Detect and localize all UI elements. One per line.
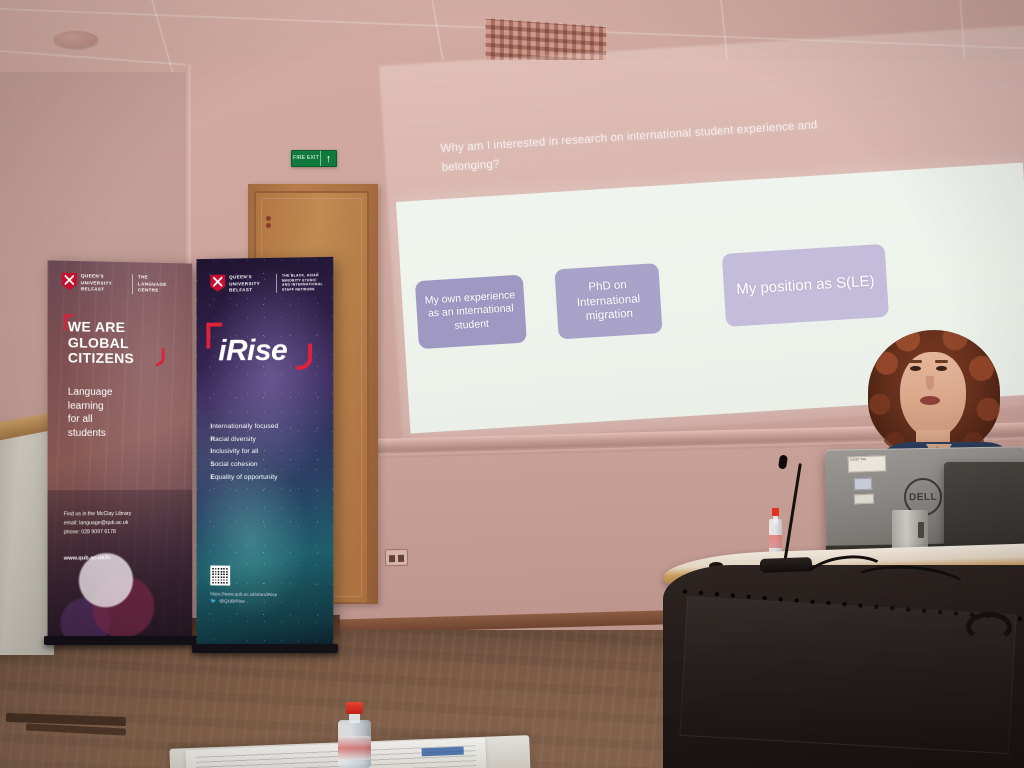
asset-sticker [854, 478, 872, 491]
banner-base [44, 636, 199, 645]
face [900, 352, 966, 438]
value-initial: I [210, 423, 212, 430]
lectern-front-panel [679, 596, 1016, 754]
mouth [920, 396, 940, 405]
water-bottle-lectern [769, 508, 782, 556]
asset-sticker: ASSET TAG [848, 455, 887, 472]
bottle-cap [346, 702, 363, 714]
irise-twitter: 🐦 @QUBiRise [210, 599, 245, 604]
bottle-label [338, 736, 371, 760]
qub-logo: QUEEN'S UNIVERSITY BELFAST [210, 274, 260, 294]
qub-logo: QUEEN'S UNIVERSITY BELFAST [62, 273, 112, 294]
irise-url: https://www.qub.ac.uk/sites/iRise [210, 591, 277, 597]
banner-headline: WE ARE GLOBAL CITIZENS [68, 319, 134, 367]
left-podium [0, 425, 54, 655]
asset-sticker [854, 494, 874, 505]
value-rest: nclusivity for all [212, 448, 258, 455]
fire-exit-label: FIRE EXIT [292, 156, 320, 161]
bottle-neck [773, 515, 778, 524]
smoke-detector-icon [54, 31, 98, 48]
door-hinge-marks [266, 216, 271, 221]
qr-code-icon [210, 565, 230, 585]
water-bottle-foreground [338, 702, 371, 768]
value-initial: I [210, 448, 212, 455]
value-rest: quality of opportunity [215, 474, 278, 481]
irise-network-mark: THE BLACK, ASIAN MINORITY ETHNIC AND INT… [276, 273, 323, 292]
irise-values-list: Internationally focused Racial diversity… [210, 421, 278, 484]
lecture-room-photo: Why am I interested in research on inter… [0, 0, 1024, 768]
banner-irise: QUEEN'S UNIVERSITY BELFAST THE BLACK, AS… [197, 257, 334, 649]
bottle-label [769, 535, 782, 548]
irise-logo: iRise [218, 334, 287, 369]
value-initial: R [210, 436, 215, 443]
bottle-cap [772, 508, 779, 516]
qub-wordmark: QUEEN'S UNIVERSITY BELFAST [229, 274, 260, 294]
nose [926, 376, 934, 390]
twitter-bird-icon: 🐦 [210, 599, 216, 604]
banner-subhead: Language learning for all students [68, 386, 113, 440]
value-rest: acial diversity [215, 436, 256, 443]
value-initial: E [210, 474, 214, 481]
slide-box-3: My position as S(LE) [722, 244, 889, 327]
eyebrow-right [935, 360, 948, 363]
bracket-close-icon [296, 344, 312, 370]
fire-exit-sign: FIRE EXIT ↑ [291, 150, 337, 167]
qub-shield-icon [210, 275, 225, 292]
banner-contact: Find us in the McClay Library email: lan… [64, 510, 131, 538]
banner-url: www.qub.ac.uk/lc [64, 555, 111, 562]
language-centre-mark: THE LANGUAGE CENTRE [132, 274, 167, 294]
value-rest: nternationally focused [212, 423, 278, 430]
banner-base [192, 644, 338, 653]
slide-box-1: My own experience as an international st… [415, 275, 527, 350]
microphone-base [760, 557, 812, 573]
eyebrow-left [909, 360, 922, 363]
qub-shield-icon [62, 273, 77, 290]
bracket-open-icon [206, 322, 222, 348]
eye-left [910, 366, 921, 371]
bracket-close-icon [156, 348, 165, 366]
power-socket-icon [385, 549, 408, 567]
slide-box-2: PhD on International migration [554, 263, 662, 339]
headset-icon [966, 612, 1012, 642]
eye-right [936, 366, 947, 371]
value-rest: ocial cohesion [215, 461, 258, 468]
value-initial: S [210, 461, 214, 468]
qub-wordmark: QUEEN'S UNIVERSITY BELFAST [81, 273, 112, 293]
exit-arrow-icon: ↑ [320, 151, 336, 166]
banner-language-centre: QUEEN'S UNIVERSITY BELFAST THE LANGUAGE … [48, 260, 193, 641]
